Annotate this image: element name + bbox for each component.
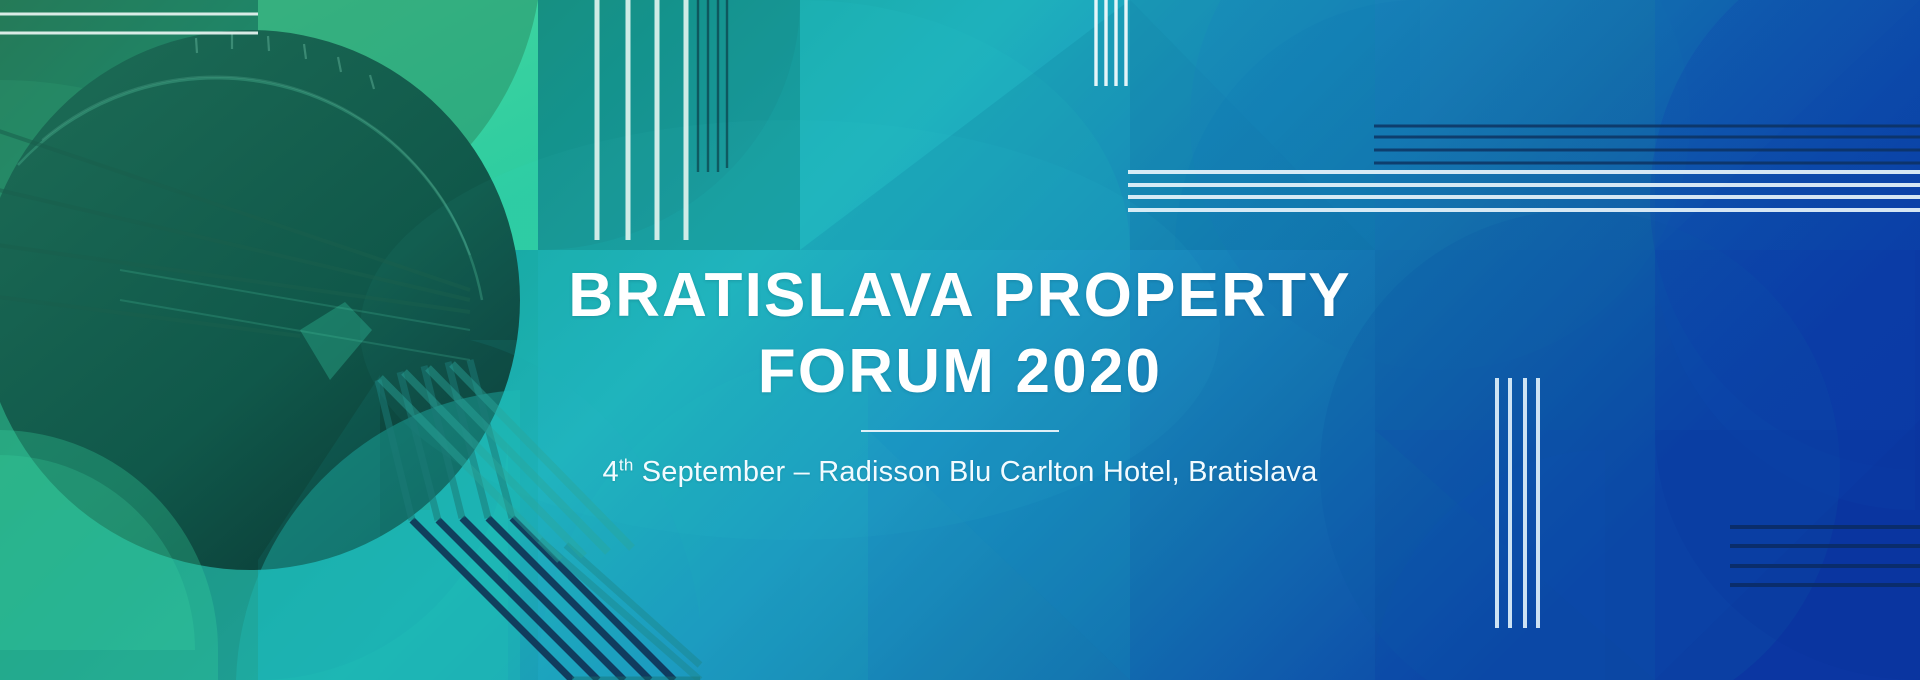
event-banner: BRATISLAVA PROPERTY FORUM 2020 4th Septe… — [0, 0, 1920, 680]
subtitle-venue: September – Radisson Blu Carlton Hotel, … — [633, 456, 1317, 488]
banner-title-line-1: BRATISLAVA PROPERTY — [0, 258, 1920, 334]
subtitle-ordinal-suffix: th — [619, 455, 634, 474]
banner-subtitle: 4th September – Radisson Blu Carlton Hot… — [0, 456, 1920, 489]
title-divider — [861, 430, 1059, 432]
banner-title-line-2: FORUM 2020 — [0, 334, 1920, 410]
banner-text-block: BRATISLAVA PROPERTY FORUM 2020 4th Septe… — [0, 258, 1920, 489]
subtitle-day: 4 — [603, 456, 619, 488]
